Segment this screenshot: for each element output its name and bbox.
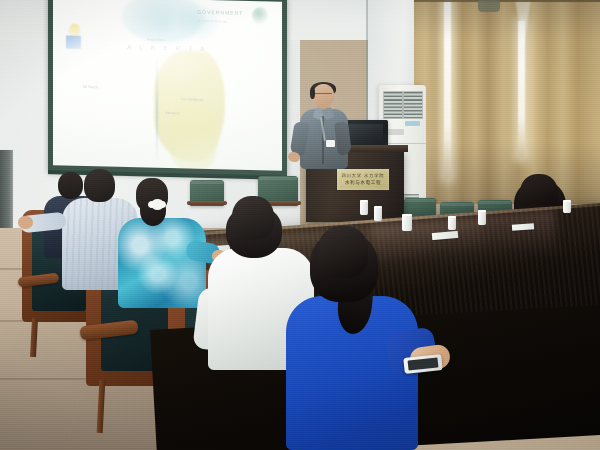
eyeglasses-icon bbox=[315, 93, 332, 98]
slide-map-label: Fort McMurray bbox=[181, 97, 203, 102]
attendee-hand bbox=[18, 216, 33, 229]
window-curtains[interactable] bbox=[414, 0, 600, 204]
ac-brand-badge bbox=[405, 121, 420, 126]
conference-room-photo: A L B E R T A Peace River Fort McMurray … bbox=[0, 0, 600, 450]
attendee-head bbox=[318, 226, 368, 278]
circular-seal-icon bbox=[252, 7, 268, 25]
slide-side-caption: Oil Sands bbox=[83, 85, 110, 91]
curtain-shading bbox=[414, 0, 600, 204]
slide-map-label: Peace River bbox=[147, 37, 164, 41]
hair-clip-icon bbox=[151, 199, 164, 210]
disposable paper cup bbox=[374, 206, 382, 221]
far-chair-arm bbox=[187, 201, 227, 205]
slide-title: A L B E R T A bbox=[113, 45, 223, 54]
attendee-head bbox=[232, 196, 274, 240]
flame-and-barrel-icon bbox=[64, 24, 85, 50]
presenter bbox=[292, 84, 364, 189]
slide-logo: GOVERNMENT of Alberta Energy bbox=[197, 5, 270, 29]
disposable paper cup bbox=[402, 214, 412, 231]
ceiling-speaker-icon bbox=[478, 0, 500, 12]
disposable paper cup bbox=[563, 200, 571, 213]
slide-logo-text: GOVERNMENT bbox=[197, 10, 247, 17]
disposable paper cup bbox=[360, 200, 368, 215]
barrel-shape bbox=[66, 36, 81, 49]
disposable paper cup bbox=[448, 216, 456, 230]
slide-map-label: Edmonton bbox=[165, 110, 180, 114]
ac-vent-grille-icon bbox=[383, 91, 423, 119]
attendee-head bbox=[84, 169, 115, 202]
presenter-right-arm bbox=[334, 121, 352, 155]
disposable paper cup bbox=[478, 210, 486, 225]
attendee-torso bbox=[118, 218, 206, 308]
id-badge bbox=[326, 140, 335, 147]
attendee-head bbox=[58, 172, 83, 199]
slide-logo-subtext: of Alberta Energy bbox=[197, 18, 251, 23]
slide-map-coastline bbox=[156, 56, 158, 161]
projection-surface: A L B E R T A Peace River Fort McMurray … bbox=[53, 0, 282, 171]
projection-screen[interactable]: A L B E R T A Peace River Fort McMurray … bbox=[48, 0, 287, 177]
